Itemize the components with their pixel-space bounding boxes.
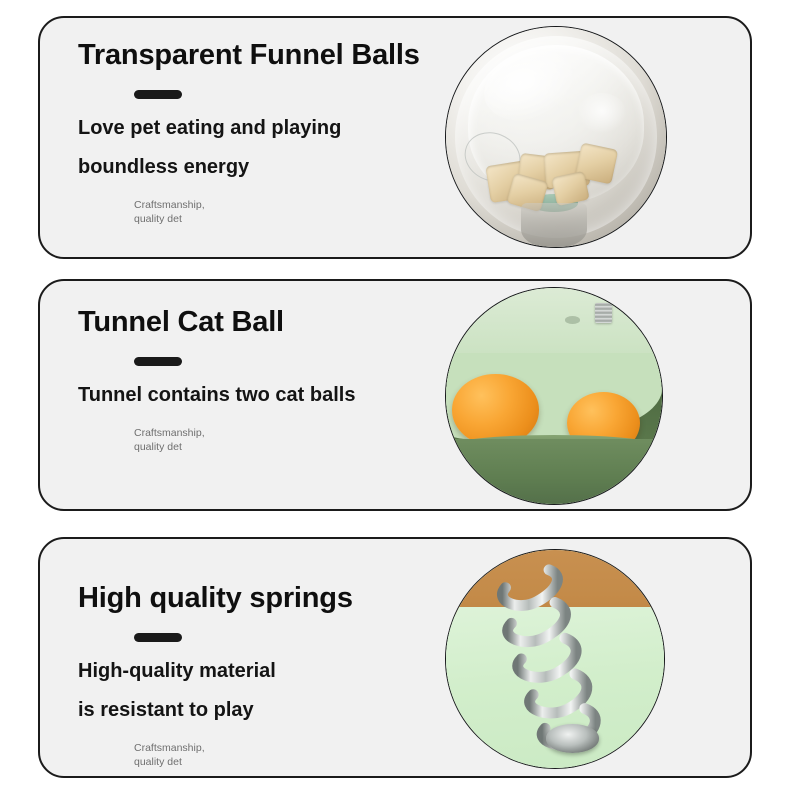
card-inner: High quality springs High-quality materi… [40,539,750,776]
transparent-funnel-ball-photo [445,26,667,248]
divider-dash-icon [134,633,182,642]
card-text-block: High quality springs High-quality materi… [78,583,478,770]
card-text-block: Transparent Funnel Balls Love pet eating… [78,40,478,227]
caption-line: quality det [134,213,478,227]
description-line: is resistant to play [78,700,478,720]
funnel-base-shape [521,203,587,247]
metal-screw-icon [595,303,612,322]
photo-stage [446,27,666,247]
card-caption: Craftsmanship, quality det [134,199,478,227]
sphere-highlight [578,93,626,133]
description-line: Love pet eating and playing [78,118,478,138]
tunnel-bottom-shape [446,439,662,504]
card-inner: Tunnel Cat Ball Tunnel contains two cat … [40,281,750,509]
card-text-block: Tunnel Cat Ball Tunnel contains two cat … [78,307,478,455]
spring-base-coil-shape [546,724,598,752]
card-inner: Transparent Funnel Balls Love pet eating… [40,18,750,257]
description-line: High-quality material [78,661,478,681]
feature-card-high-quality-springs[interactable]: High quality springs High-quality materi… [38,537,752,778]
infographic-page: Transparent Funnel Balls Love pet eating… [0,0,800,800]
caption-line: Craftsmanship, [134,199,478,213]
tunnel-cat-ball-photo [445,287,663,505]
feature-card-transparent-funnel-balls[interactable]: Transparent Funnel Balls Love pet eating… [38,16,752,259]
card-title: High quality springs [78,583,478,615]
card-description: Tunnel contains two cat balls [78,385,478,405]
card-description: Love pet eating and playing boundless en… [78,118,478,177]
description-line: boundless energy [78,157,478,177]
divider-dash-icon [134,357,182,366]
caption-line: Craftsmanship, [134,427,478,441]
caption-line: quality det [134,441,478,455]
card-caption: Craftsmanship, quality det [134,427,478,455]
card-caption: Craftsmanship, quality det [134,742,478,770]
description-line: Tunnel contains two cat balls [78,385,478,405]
high-quality-spring-photo [445,549,665,769]
card-title: Tunnel Cat Ball [78,307,478,339]
divider-dash-icon [134,90,182,99]
card-title: Transparent Funnel Balls [78,40,478,72]
card-description: High-quality material is resistant to pl… [78,661,478,720]
caption-line: quality det [134,756,478,770]
photo-stage [446,550,664,768]
tunnel-dimple-shape [565,316,580,324]
photo-stage [446,288,662,504]
feature-card-tunnel-cat-ball[interactable]: Tunnel Cat Ball Tunnel contains two cat … [38,279,752,511]
caption-line: Craftsmanship, [134,742,478,756]
